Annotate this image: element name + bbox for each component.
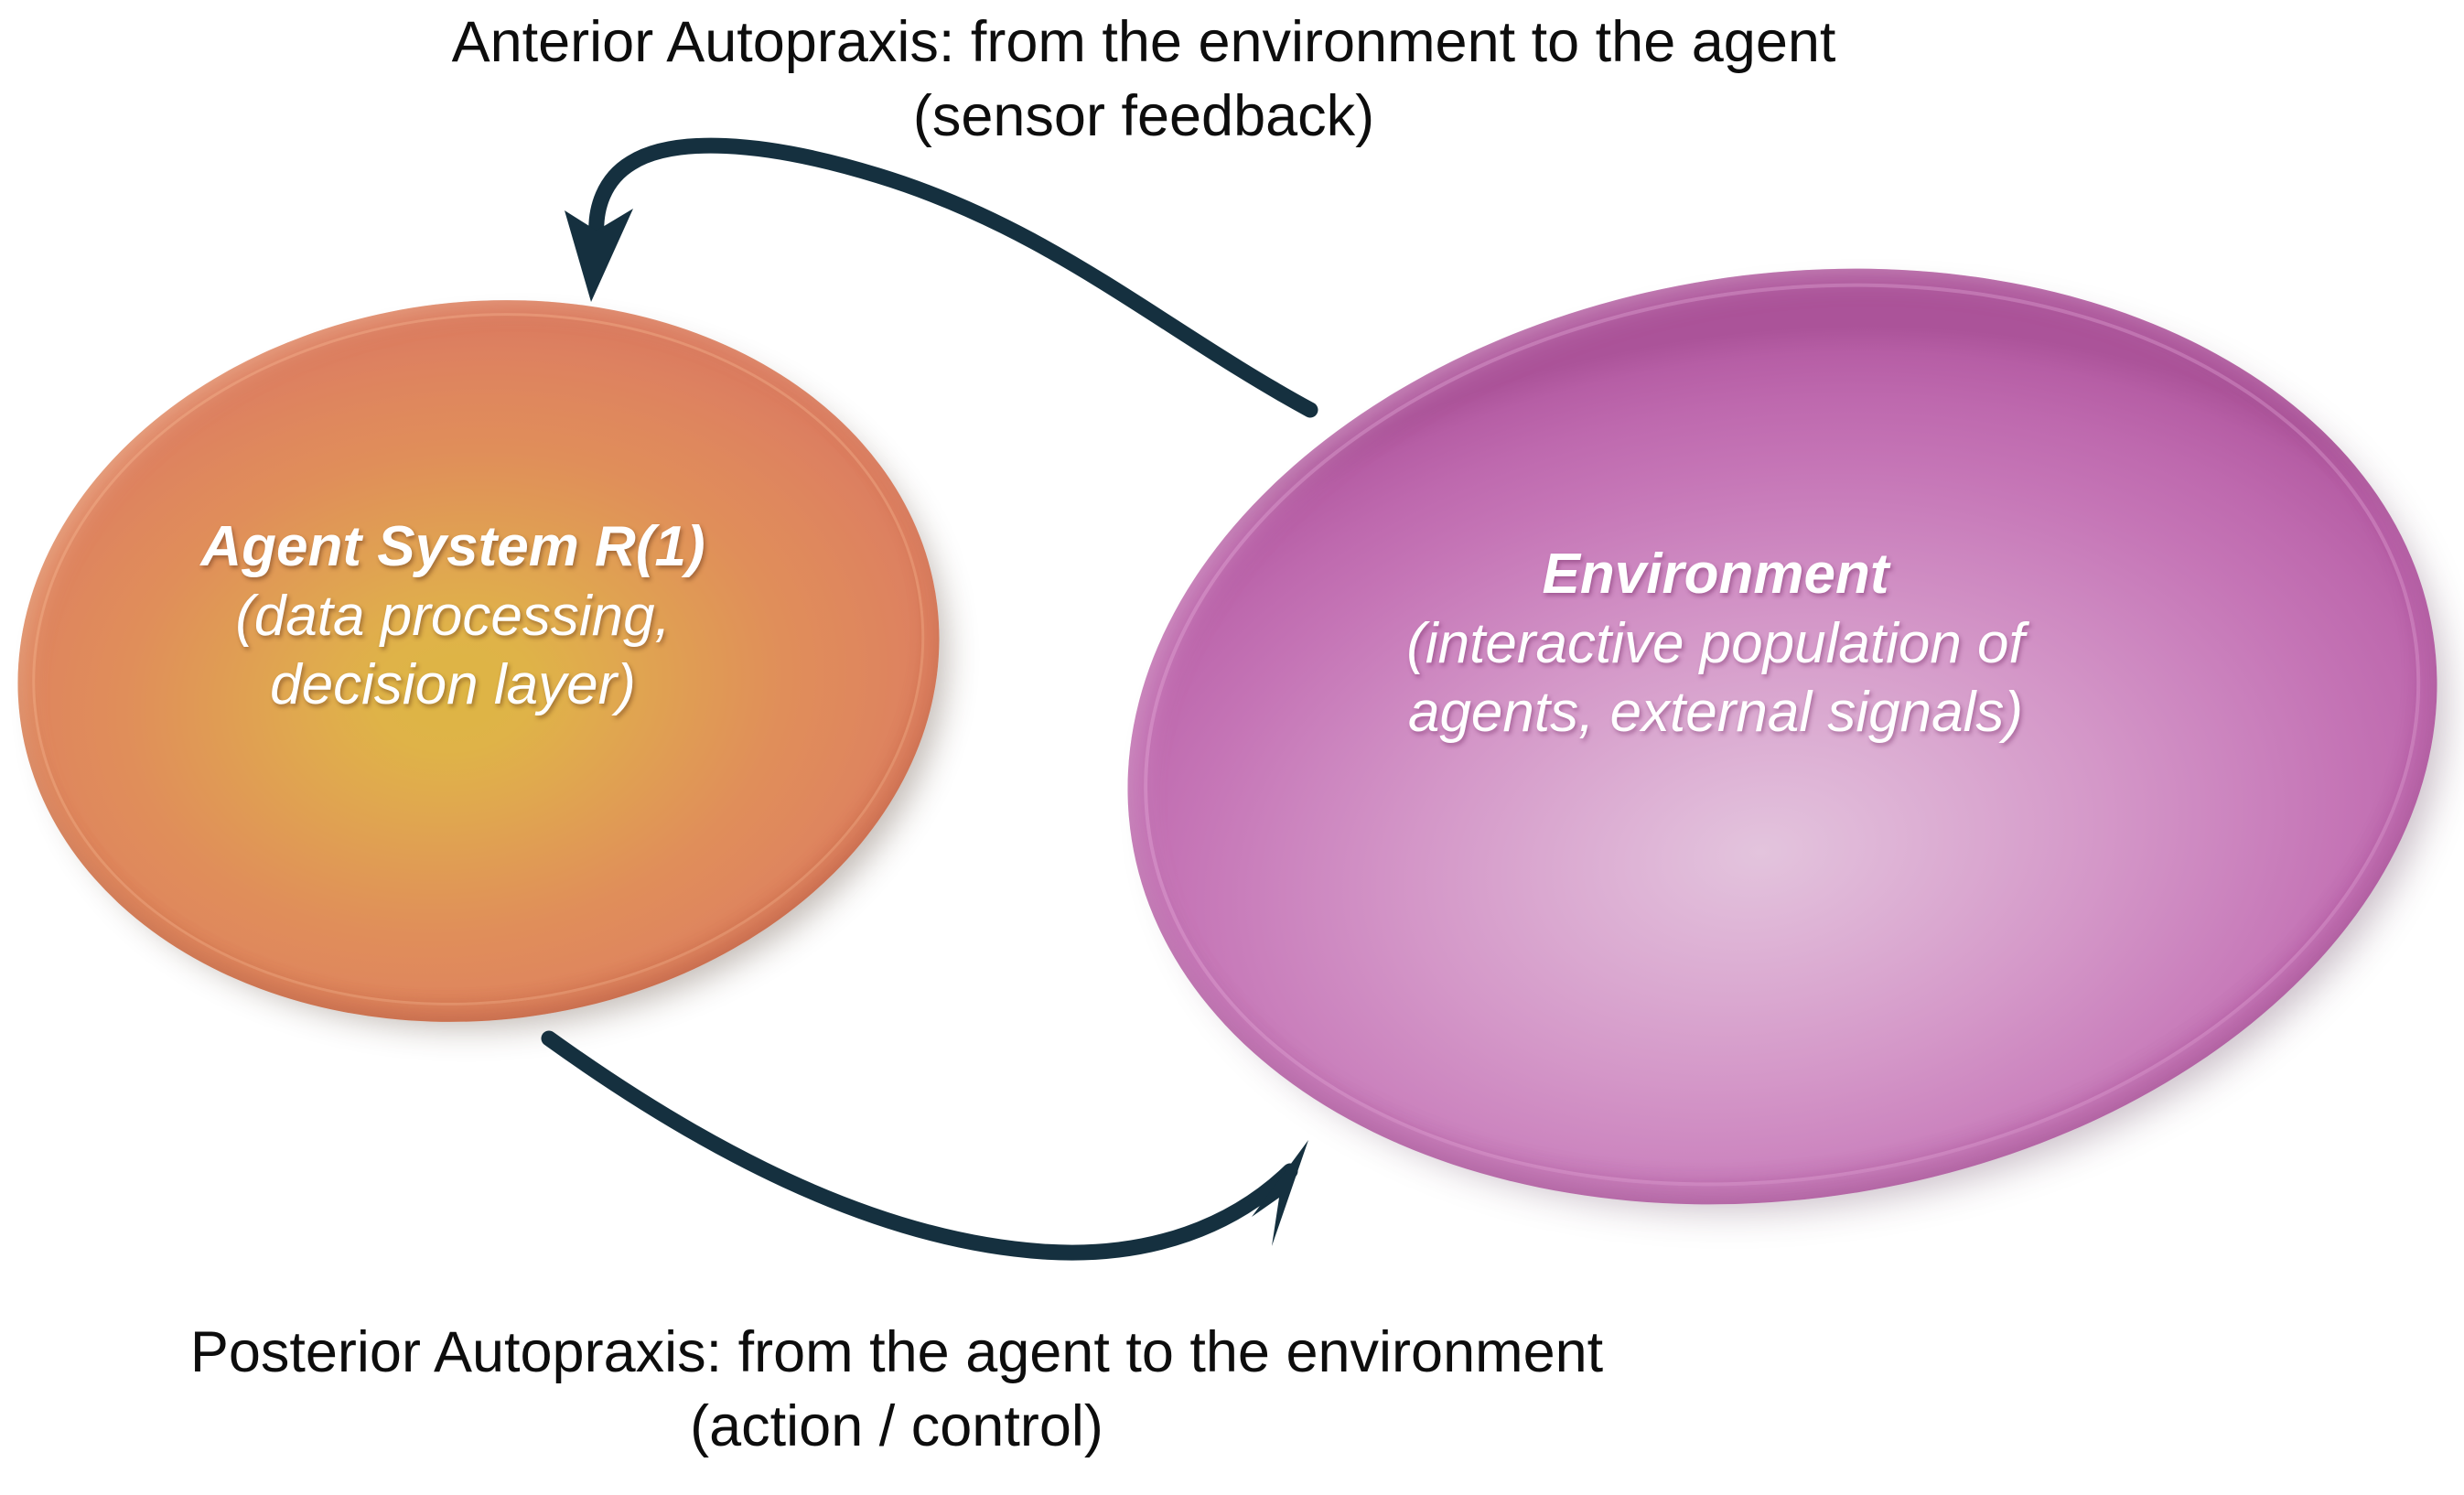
posterior-autopraxis-caption: Posterior Autopraxis: from the agent to … [0, 1316, 1793, 1463]
posterior-caption-line1: Posterior Autopraxis: from the agent to … [190, 1320, 1603, 1384]
environment-ellipse[interactable] [1060, 177, 2464, 1296]
anterior-caption-line1: Anterior Autopraxis: from the environmen… [452, 10, 1836, 74]
environment-ellipse-fill [1060, 177, 2464, 1296]
diagram-canvas: Anterior Autopraxis: from the environmen… [0, 0, 2464, 1495]
agent-system-ellipse[interactable] [0, 248, 981, 1073]
anterior-autopraxis-caption: Anterior Autopraxis: from the environmen… [0, 5, 2287, 153]
agent-system-ellipse-fill [0, 248, 981, 1073]
anterior-caption-line2: (sensor feedback) [0, 80, 2287, 154]
posterior-caption-line2: (action / control) [0, 1390, 1793, 1464]
